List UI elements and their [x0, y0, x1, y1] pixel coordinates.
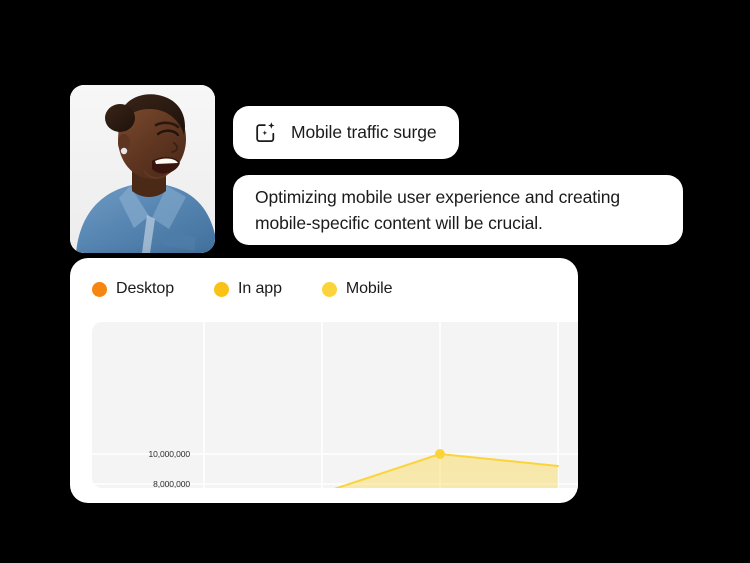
legend-dot-mobile: [322, 282, 337, 297]
insight-body-bubble[interactable]: Optimizing mobile user experience and cr…: [233, 175, 683, 245]
ai-sparkle-icon: [253, 120, 278, 145]
legend-label-desktop: Desktop: [116, 280, 174, 298]
legend-dot-in-app: [214, 282, 229, 297]
area-chart-svg: 2,000,0004,000,0006,000,0008,000,00010,0…: [92, 322, 578, 488]
chart-legend: Desktop In app Mobile: [92, 280, 432, 298]
legend-label-mobile: Mobile: [346, 280, 393, 298]
legend-item-mobile[interactable]: Mobile: [322, 280, 393, 298]
svg-text:10,000,000: 10,000,000: [148, 449, 190, 459]
portrait-photo: [70, 85, 215, 253]
legend-label-in-app: In app: [238, 280, 282, 298]
canvas: Mobile traffic surge Optimizing mobile u…: [0, 0, 750, 563]
legend-dot-desktop: [92, 282, 107, 297]
chart-plot-area: 2,000,0004,000,0006,000,0008,000,00010,0…: [92, 322, 578, 488]
insight-title-label: Mobile traffic surge: [291, 122, 437, 143]
traffic-chart-card: Desktop In app Mobile 2,000,0004,000,000…: [70, 258, 578, 503]
legend-item-desktop[interactable]: Desktop: [92, 280, 174, 298]
avatar-photo-card: [70, 85, 215, 253]
legend-item-in-app[interactable]: In app: [214, 280, 282, 298]
svg-text:8,000,000: 8,000,000: [153, 479, 190, 488]
insight-title-bubble[interactable]: Mobile traffic surge: [233, 106, 459, 159]
insight-body-text: Optimizing mobile user experience and cr…: [255, 184, 661, 236]
